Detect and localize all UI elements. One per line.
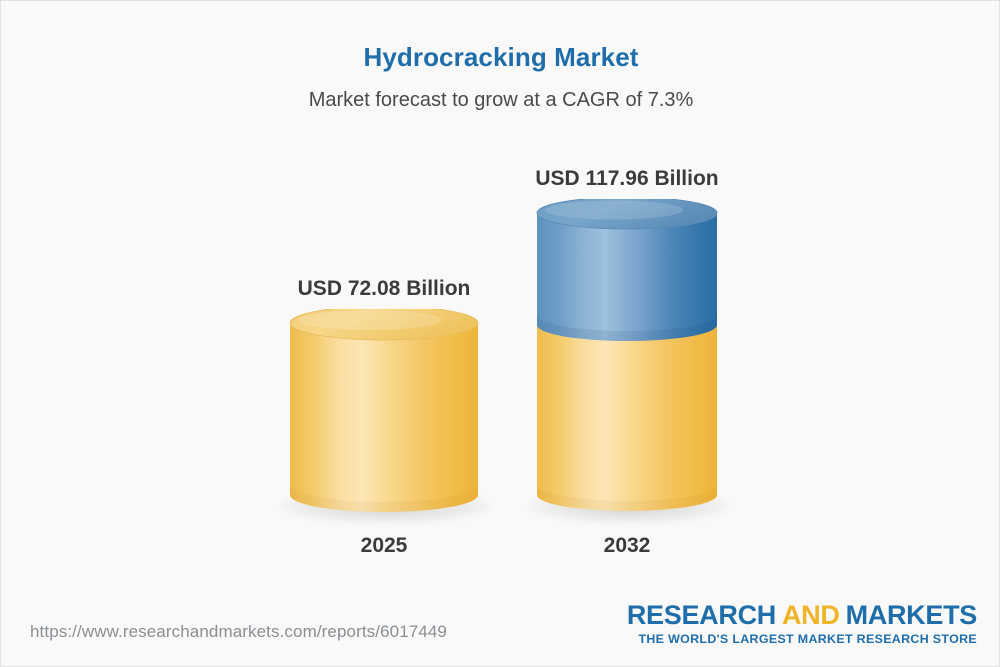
value-label-2032: USD 117.96 Billion	[507, 167, 747, 191]
brand-logo[interactable]: RESEARCHANDMARKETS THE WORLD'S LARGEST M…	[627, 601, 977, 646]
source-url[interactable]: https://www.researchandmarkets.com/repor…	[30, 622, 447, 642]
logo-word-and: AND	[782, 600, 840, 630]
category-label-2032: 2032	[532, 534, 722, 558]
bar-2032	[532, 199, 722, 524]
plot-area: USD 72.08 Billion 2025	[1, 1, 1000, 601]
value-label-2025: USD 72.08 Billion	[264, 277, 504, 301]
bar-2025	[284, 309, 484, 524]
logo-word-markets: MARKETS	[846, 600, 977, 630]
chart-canvas: Hydrocracking Market Market forecast to …	[0, 0, 1000, 667]
category-label-2025: 2025	[284, 534, 484, 558]
logo-wordmark: RESEARCHANDMARKETS	[627, 601, 977, 629]
logo-word-research: RESEARCH	[627, 600, 776, 630]
logo-tagline: THE WORLD'S LARGEST MARKET RESEARCH STOR…	[627, 632, 977, 646]
